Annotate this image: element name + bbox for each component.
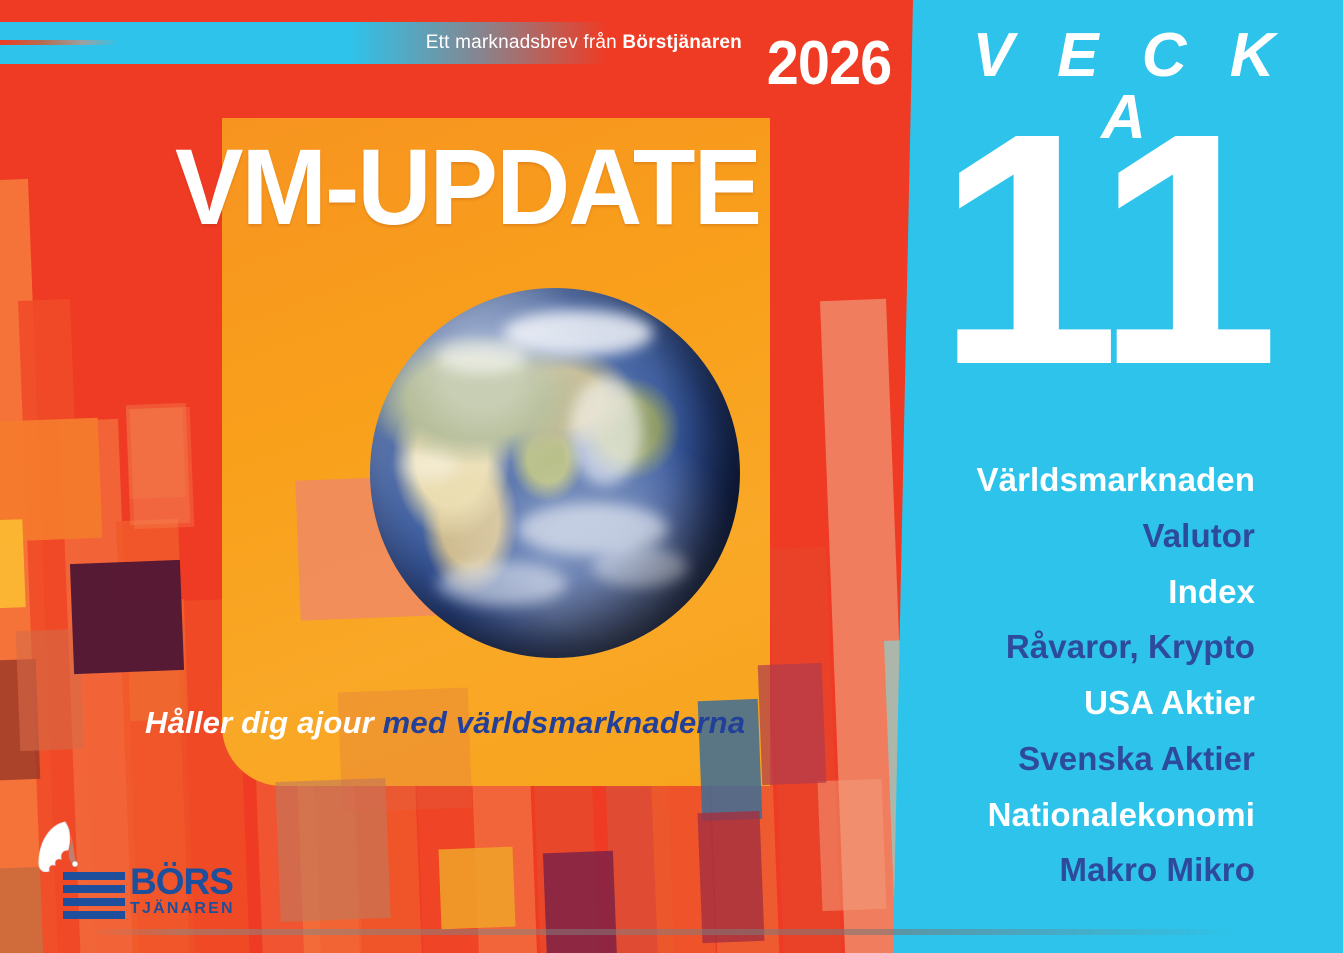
globe-shading	[370, 288, 740, 658]
kicker-text: Ett marknadsbrev från Börstjänaren	[0, 24, 742, 62]
borstjanaren-logo[interactable]: BÖRS TJÄNAREN	[25, 820, 205, 920]
decor-square	[130, 407, 195, 529]
topic-item-0[interactable]: Världsmarknaden	[900, 452, 1255, 508]
tagline-part-blue: med världsmarknaderna	[374, 705, 745, 740]
logo-wordmark: BÖRS TJÄNAREN	[130, 864, 235, 917]
topic-item-2[interactable]: Index	[900, 564, 1255, 620]
kicker-prefix: Ett marknadsbrev från	[426, 32, 623, 53]
logo-word-secondary: TJÄNAREN	[130, 901, 235, 917]
decor-square	[70, 560, 184, 674]
page-title: VM-UPDATE	[175, 133, 760, 241]
tagline-part-white: Håller dig ajour	[145, 705, 374, 740]
decor-square	[758, 663, 827, 785]
decor-square	[0, 519, 26, 609]
topic-item-7[interactable]: Makro Mikro	[900, 842, 1255, 898]
topics-list: VärldsmarknadenValutorIndexRåvaror, Kryp…	[900, 452, 1255, 898]
logo-bars-icon	[63, 872, 125, 918]
decor-square	[543, 851, 619, 953]
year-label: 2026	[750, 28, 908, 99]
logo-word-primary: BÖRS	[130, 864, 235, 900]
topic-item-4[interactable]: USA Aktier	[900, 675, 1255, 731]
topic-item-6[interactable]: Nationalekonomi	[900, 787, 1255, 843]
decor-square	[438, 847, 515, 930]
decor-square	[818, 779, 887, 911]
kicker-brand: Börstjänaren	[622, 32, 742, 53]
butterfly-wing-icon	[35, 820, 81, 876]
decor-square	[698, 811, 765, 943]
earth-globe	[370, 288, 740, 658]
topic-item-3[interactable]: Råvaror, Krypto	[900, 619, 1255, 675]
newsletter-cover: Ett marknadsbrev från Börstjänaren 2026 …	[0, 0, 1343, 953]
topic-item-5[interactable]: Svenska Aktier	[900, 731, 1255, 787]
footer-hairline	[88, 929, 1238, 935]
tagline: Håller dig ajour med världsmarknaderna	[145, 705, 745, 741]
topic-item-1[interactable]: Valutor	[900, 508, 1255, 564]
week-number: 11	[930, 96, 1280, 403]
